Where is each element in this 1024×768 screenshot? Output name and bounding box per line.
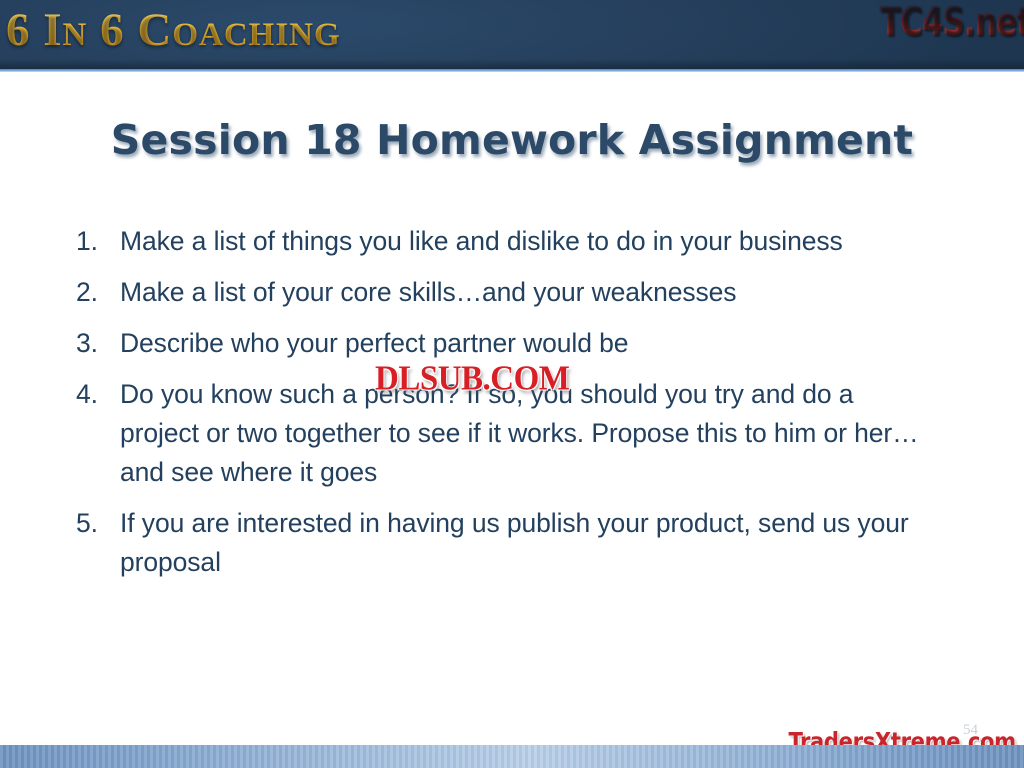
list-item: 1. Make a list of things you like and di…: [70, 222, 950, 261]
brand-title: 6 In 6 Coaching: [6, 7, 341, 54]
list-item-text: Describe who your perfect partner would …: [120, 324, 920, 363]
page-title: Session 18 Homework Assignment: [0, 118, 1024, 163]
list-item-text: Do you know such a person? If so, you sh…: [120, 375, 920, 492]
homework-list: 1. Make a list of things you like and di…: [70, 222, 950, 594]
header-divider-rule: [0, 69, 1024, 72]
list-item-text: Make a list of things you like and disli…: [120, 222, 920, 261]
slide-header-band: 6 In 6 Coaching TC4S.net: [0, 0, 1024, 69]
list-item-number: 3.: [70, 324, 120, 363]
list-item-number: 5.: [70, 504, 120, 543]
list-item: 5. If you are interested in having us pu…: [70, 504, 950, 582]
footer-bar: [0, 745, 1024, 768]
list-item: 2. Make a list of your core skills…and y…: [70, 273, 950, 312]
list-item-number: 2.: [70, 273, 120, 312]
presentation-slide: 6 In 6 Coaching TC4S.net Session 18 Home…: [0, 0, 1024, 768]
list-item-text: If you are interested in having us publi…: [120, 504, 920, 582]
list-item: 3. Describe who your perfect partner wou…: [70, 324, 950, 363]
list-item-number: 1.: [70, 222, 120, 261]
list-item-number: 4.: [70, 375, 120, 414]
list-item: 4. Do you know such a person? If so, you…: [70, 375, 950, 492]
tc4s-logo: TC4S.net: [880, 2, 1024, 42]
list-item-text: Make a list of your core skills…and your…: [120, 273, 920, 312]
